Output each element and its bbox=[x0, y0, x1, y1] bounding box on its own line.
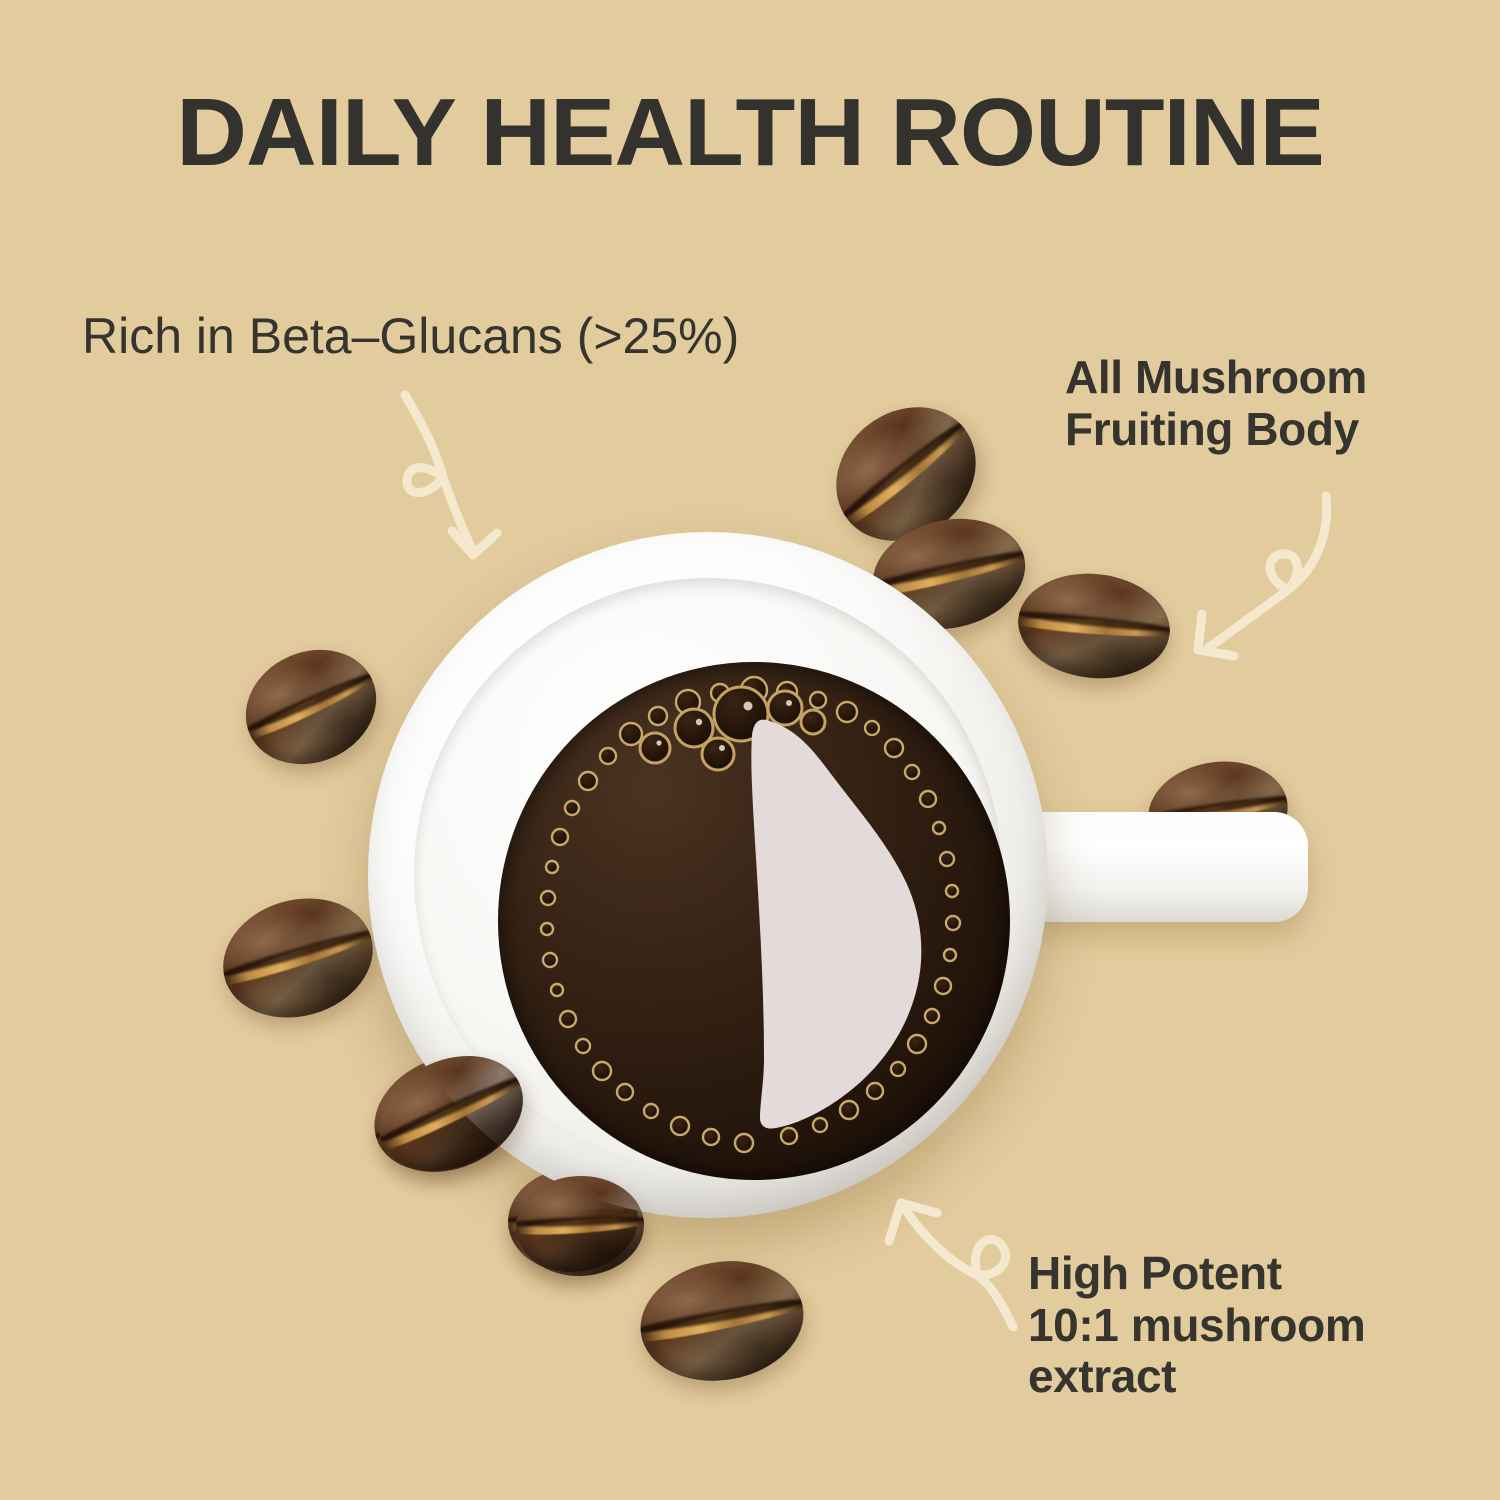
poster-canvas: DAILY HEALTH ROUTINE bbox=[0, 0, 1500, 1500]
coffee-surface bbox=[498, 662, 1010, 1180]
cream-swirl bbox=[498, 662, 1010, 1180]
coffee-bean bbox=[1013, 566, 1175, 685]
coffee-bean bbox=[209, 881, 387, 1034]
cup-handle bbox=[1008, 812, 1308, 922]
coffee-bean bbox=[631, 1249, 813, 1394]
feature-label-beta-glucans: Rich in Beta–Glucans (>25%) bbox=[82, 308, 739, 364]
feature-label-high-potent: High Potent 10:1 mushroom extract bbox=[1028, 1248, 1365, 1403]
feature-label-fruiting-body: All Mushroom Fruiting Body bbox=[1065, 352, 1367, 455]
coffee-bean bbox=[227, 630, 394, 785]
